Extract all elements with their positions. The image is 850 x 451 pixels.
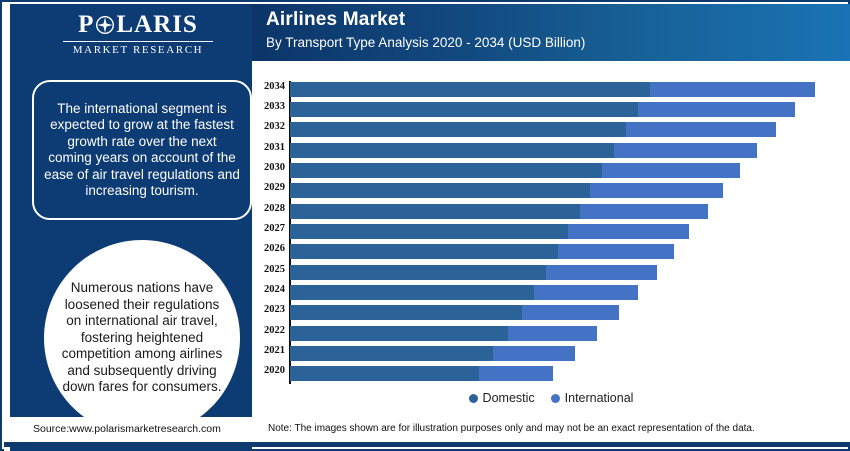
bar-segment-domestic[interactable]: [290, 244, 558, 259]
legend-label: International: [565, 391, 634, 405]
polaris-logo: P LARIS MARKET RESEARCH: [24, 10, 252, 62]
callout-circle: Numerous nations have loosened their reg…: [44, 240, 240, 436]
legend-item-domestic[interactable]: Domestic: [469, 391, 535, 405]
page-subtitle: By Transport Type Analysis 2020 - 2034 (…: [266, 33, 850, 53]
bar-segment-domestic[interactable]: [290, 122, 626, 137]
bar-segment-international[interactable]: [493, 346, 575, 361]
y-axis-tick-label: 2033: [264, 101, 285, 112]
bar-segment-domestic[interactable]: [290, 183, 590, 198]
bar-row: 2024: [290, 285, 846, 300]
y-axis-tick-label: 2032: [264, 121, 285, 132]
bar-segment-domestic[interactable]: [290, 285, 534, 300]
chart-header: Airlines Market By Transport Type Analys…: [252, 4, 850, 61]
bar-segment-international[interactable]: [580, 204, 708, 219]
bar-segment-international[interactable]: [650, 82, 814, 97]
page-title: Airlines Market: [266, 7, 850, 33]
bar-row: 2030: [290, 163, 846, 178]
y-axis-tick-label: 2030: [264, 162, 285, 173]
bar-segment-domestic[interactable]: [290, 143, 614, 158]
y-axis-tick-label: 2024: [264, 284, 285, 295]
bar-row: 2032: [290, 122, 846, 137]
legend-item-international[interactable]: International: [551, 391, 634, 405]
bar-segment-international[interactable]: [522, 305, 619, 320]
bar-row: 2029: [290, 183, 846, 198]
bar-segment-domestic[interactable]: [290, 305, 522, 320]
bar-segment-domestic[interactable]: [290, 224, 568, 239]
bar-segment-international[interactable]: [614, 143, 757, 158]
bar-segment-domestic[interactable]: [290, 163, 602, 178]
y-axis-tick-label: 2026: [264, 243, 285, 254]
compass-star-icon: [95, 15, 115, 35]
y-axis-tick-label: 2023: [264, 304, 285, 315]
chart-canvas: 2034203320322031203020292028202720262025…: [252, 61, 850, 421]
logo-divider: [63, 41, 213, 42]
infographic-page: P LARIS MARKET RESEARCH The internationa…: [0, 0, 850, 451]
bar-row: 2020: [290, 366, 846, 381]
y-axis-tick-label: 2022: [264, 325, 285, 336]
bar-segment-domestic[interactable]: [290, 366, 479, 381]
footer: Source:www.polarismarketresearch.com Not…: [4, 417, 850, 447]
logo-tagline: MARKET RESEARCH: [24, 44, 252, 56]
left-sidebar: P LARIS MARKET RESEARCH The internationa…: [4, 4, 252, 451]
y-axis-tick-label: 2029: [264, 182, 285, 193]
bar-segment-domestic[interactable]: [290, 346, 493, 361]
bar-segment-domestic[interactable]: [290, 326, 508, 341]
logo-wordmark: P LARIS: [24, 10, 252, 40]
bar-row: 2033: [290, 102, 846, 117]
callout-circle-text: Numerous nations have loosened their reg…: [56, 280, 228, 396]
legend-label: Domestic: [483, 391, 535, 405]
bar-row: 2022: [290, 326, 846, 341]
bar-row: 2025: [290, 265, 846, 280]
logo-text-p: P: [78, 10, 94, 40]
footer-accent-bar: [4, 442, 850, 447]
logo-text-olaris: LARIS: [116, 10, 197, 40]
legend-swatch-icon: [469, 394, 478, 403]
bar-segment-international[interactable]: [508, 326, 597, 341]
disclaimer-note: Note: The images shown are for illustrat…: [268, 423, 755, 434]
bar-segment-international[interactable]: [602, 163, 740, 178]
source-label: Source:www.polarismarketresearch.com: [33, 423, 221, 435]
bar-row: 2034: [290, 82, 846, 97]
bar-segment-international[interactable]: [590, 183, 723, 198]
bar-segment-domestic[interactable]: [290, 265, 546, 280]
y-axis-tick-label: 2021: [264, 345, 285, 356]
y-axis-tick-label: 2025: [264, 264, 285, 275]
bar-segment-international[interactable]: [638, 102, 795, 117]
callout-box-text: The international segment is expected to…: [44, 101, 240, 200]
bar-segment-domestic[interactable]: [290, 82, 650, 97]
bar-segment-international[interactable]: [568, 224, 689, 239]
callout-rounded-box: The international segment is expected to…: [32, 80, 252, 220]
bar-segment-international[interactable]: [479, 366, 554, 381]
bar-segment-domestic[interactable]: [290, 102, 638, 117]
callout-circle-wrapper: Numerous nations have loosened their reg…: [44, 240, 240, 436]
legend-swatch-icon: [551, 394, 560, 403]
bar-segment-international[interactable]: [626, 122, 776, 137]
bar-segment-international[interactable]: [534, 285, 638, 300]
bar-row: 2031: [290, 143, 846, 158]
bar-row: 2023: [290, 305, 846, 320]
y-axis-tick-label: 2028: [264, 203, 285, 214]
bar-segment-international[interactable]: [558, 244, 674, 259]
bar-row: 2028: [290, 204, 846, 219]
chart-legend: DomesticInternational: [252, 388, 850, 408]
bar-row: 2021: [290, 346, 846, 361]
y-axis-tick-label: 2027: [264, 223, 285, 234]
y-axis-tick-label: 2020: [264, 365, 285, 376]
bar-row: 2026: [290, 244, 846, 259]
bar-segment-domestic[interactable]: [290, 204, 580, 219]
y-axis-tick-label: 2034: [264, 81, 285, 92]
y-axis-tick-label: 2031: [264, 142, 285, 153]
bar-row: 2027: [290, 224, 846, 239]
plot-area: 2034203320322031203020292028202720262025…: [290, 79, 846, 384]
bar-segment-international[interactable]: [546, 265, 657, 280]
